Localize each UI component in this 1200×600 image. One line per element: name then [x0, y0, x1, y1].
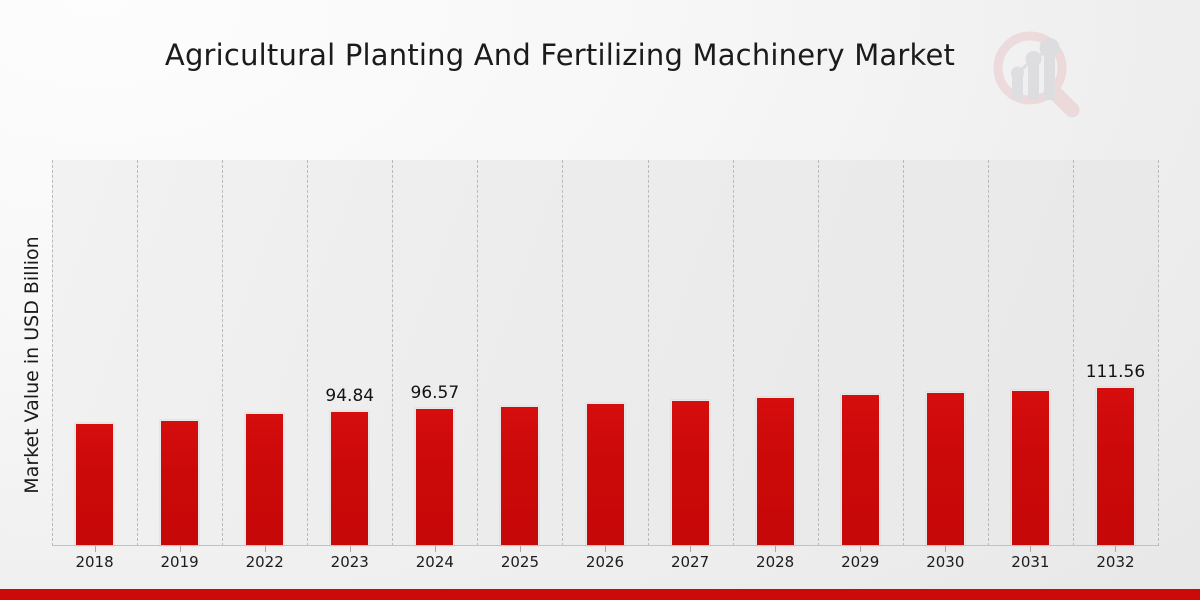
bar-value-label-2023: 94.84: [305, 386, 395, 406]
y-axis-title: Market Value in USD Billion: [21, 85, 43, 600]
chart-container: Agricultural Planting And Fertilizing Ma…: [0, 0, 1200, 600]
gridline: [1073, 160, 1074, 546]
x-tick-2019: [180, 546, 181, 552]
x-tick-label-2032: 2032: [1070, 553, 1160, 571]
bar-2023[interactable]: [330, 411, 369, 546]
x-tick-label-2027: 2027: [645, 553, 735, 571]
x-tick-2028: [775, 546, 776, 552]
x-tick-label-2018: 2018: [50, 553, 140, 571]
gridline: [392, 160, 393, 546]
x-tick-label-2031: 2031: [985, 553, 1075, 571]
x-tick-2023: [350, 546, 351, 552]
gridline: [52, 160, 53, 546]
plot-area: [52, 160, 1158, 546]
gridline: [562, 160, 563, 546]
gridline: [222, 160, 223, 546]
x-tick-2027: [690, 546, 691, 552]
bar-2029[interactable]: [841, 394, 880, 546]
x-tick-label-2019: 2019: [135, 553, 225, 571]
bar-2026[interactable]: [586, 403, 625, 546]
x-tick-label-2024: 2024: [390, 553, 480, 571]
bar-2025[interactable]: [500, 406, 539, 546]
bar-2032[interactable]: [1096, 387, 1135, 546]
chart-title: Agricultural Planting And Fertilizing Ma…: [0, 38, 1120, 72]
bar-2030[interactable]: [926, 392, 965, 546]
gridline: [988, 160, 989, 546]
x-tick-2018: [95, 546, 96, 552]
gridline: [477, 160, 478, 546]
x-tick-label-2023: 2023: [305, 553, 395, 571]
bar-value-label-2032: 111.56: [1070, 362, 1160, 382]
x-tick-label-2028: 2028: [730, 553, 820, 571]
gridline: [1158, 160, 1159, 546]
bar-2022[interactable]: [245, 413, 284, 546]
bar-value-label-2024: 96.57: [390, 383, 480, 403]
x-tick-label-2030: 2030: [900, 553, 990, 571]
bar-2019[interactable]: [160, 420, 199, 546]
x-tick-label-2029: 2029: [815, 553, 905, 571]
x-tick-label-2022: 2022: [220, 553, 310, 571]
x-tick-label-2026: 2026: [560, 553, 650, 571]
footer-accent-band: [0, 589, 1200, 600]
gridline: [818, 160, 819, 546]
bar-2024[interactable]: [415, 408, 454, 546]
x-tick-2031: [1030, 546, 1031, 552]
x-tick-2026: [605, 546, 606, 552]
x-tick-2025: [520, 546, 521, 552]
gridline: [307, 160, 308, 546]
bar-2018[interactable]: [75, 423, 114, 546]
x-tick-2032: [1115, 546, 1116, 552]
gridline: [733, 160, 734, 546]
bar-2028[interactable]: [756, 397, 795, 546]
gridline: [137, 160, 138, 546]
bar-2031[interactable]: [1011, 390, 1050, 546]
x-tick-2030: [945, 546, 946, 552]
bar-2027[interactable]: [671, 400, 710, 546]
x-tick-label-2025: 2025: [475, 553, 565, 571]
x-tick-2024: [435, 546, 436, 552]
x-tick-2029: [860, 546, 861, 552]
gridline: [903, 160, 904, 546]
gridline: [648, 160, 649, 546]
x-tick-2022: [265, 546, 266, 552]
